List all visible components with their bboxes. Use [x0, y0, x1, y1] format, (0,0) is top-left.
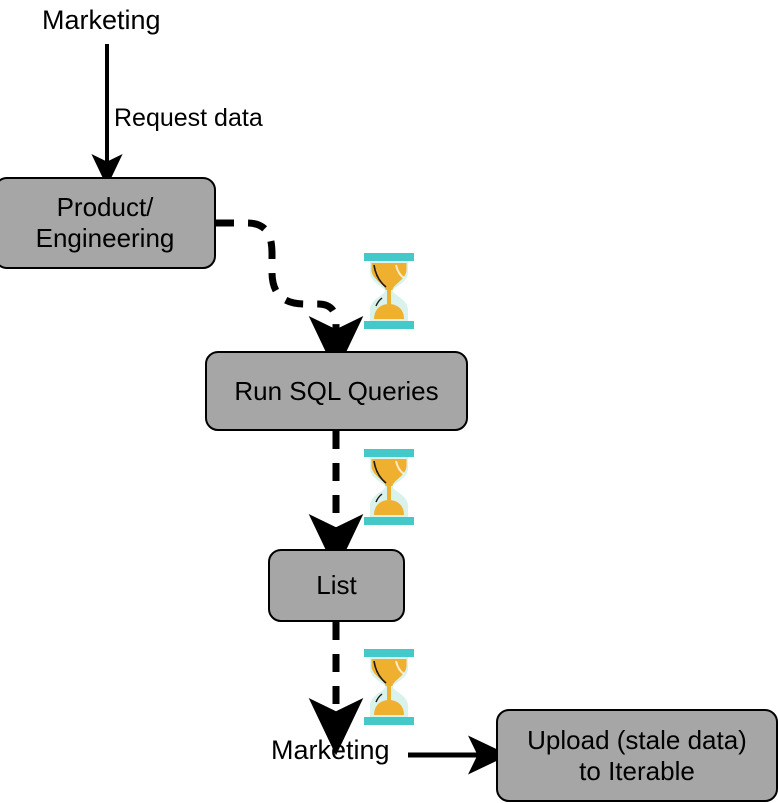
label-marketing-top: Marketing: [42, 5, 161, 36]
node-label-line-1: Product/: [36, 192, 175, 223]
node-label-line-2: Engineering: [36, 223, 175, 254]
hourglass-icon: [362, 648, 416, 726]
node-label: Product/ Engineering: [36, 192, 175, 253]
label-marketing-bottom: Marketing: [271, 735, 390, 766]
node-product-engineering[interactable]: Product/ Engineering: [0, 177, 216, 269]
connector-product-to-sql: [216, 223, 336, 344]
node-label: Run SQL Queries: [234, 376, 438, 407]
node-run-sql-queries[interactable]: Run SQL Queries: [205, 351, 468, 431]
node-label-line-2: to Iterable: [527, 756, 747, 787]
node-label-line-1: Run SQL Queries: [234, 376, 438, 407]
node-list[interactable]: List: [268, 549, 405, 622]
node-label-line-1: List: [316, 570, 356, 601]
label-request-data: Request data: [114, 104, 263, 133]
hourglass-icon: [362, 448, 416, 526]
node-label-line-1: Upload (stale data): [527, 725, 747, 756]
node-label: List: [316, 570, 356, 601]
diagram-canvas: Product/ Engineering Run SQL Queries Lis…: [0, 0, 778, 803]
node-label: Upload (stale data) to Iterable: [527, 725, 747, 786]
node-upload-to-iterable[interactable]: Upload (stale data) to Iterable: [496, 709, 778, 802]
hourglass-icon: [362, 252, 416, 330]
